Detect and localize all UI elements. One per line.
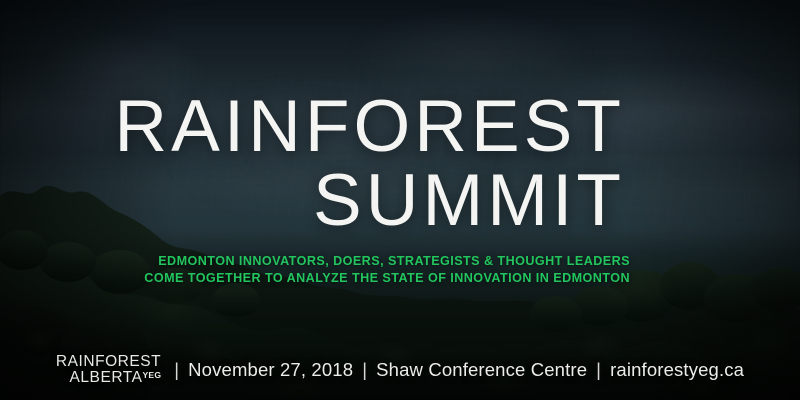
poster-footer: RAINFOREST ALBERTAYEG | November 27, 201… (0, 354, 800, 386)
footer-separator-1: | (174, 359, 179, 381)
logo-text-alberta: ALBERTA (70, 370, 143, 386)
title-line-rainforest: RAINFOREST (0, 92, 625, 162)
event-details: | November 27, 2018 | Shaw Conference Ce… (174, 359, 744, 381)
poster-subtitle: EDMONTON INNOVATORS, DOERS, STRATEGISTS … (0, 253, 630, 288)
event-website[interactable]: rainforestyeg.ca (610, 359, 744, 381)
logo-text-alberta-row: ALBERTAYEG (70, 370, 162, 386)
subtitle-line-2: COME TOGETHER TO ANALYZE THE STATE OF IN… (0, 270, 630, 287)
rainforest-alberta-logo: RAINFOREST ALBERTAYEG (56, 354, 161, 386)
subtitle-line-2-emphasis: THE STATE OF INNOVATION IN EDMONTON (352, 271, 630, 285)
poster-content: RAINFOREST SUMMIT EDMONTON INNOVATORS, D… (0, 0, 800, 400)
poster-title: RAINFOREST SUMMIT (0, 92, 625, 236)
event-date: November 27, 2018 (188, 359, 353, 381)
logo-text-rainforest: RAINFOREST (56, 354, 161, 370)
logo-superscript-yeg: YEG (143, 371, 162, 380)
subtitle-line-2-prefix: COME TOGETHER TO ANALYZE (144, 271, 352, 285)
subtitle-line-1: EDMONTON INNOVATORS, DOERS, STRATEGISTS … (0, 253, 630, 270)
event-venue: Shaw Conference Centre (376, 359, 587, 381)
event-poster: RAINFOREST SUMMIT EDMONTON INNOVATORS, D… (0, 0, 800, 400)
title-line-summit: SUMMIT (0, 166, 625, 236)
footer-separator-3: | (596, 359, 601, 381)
footer-separator-2: | (362, 359, 367, 381)
